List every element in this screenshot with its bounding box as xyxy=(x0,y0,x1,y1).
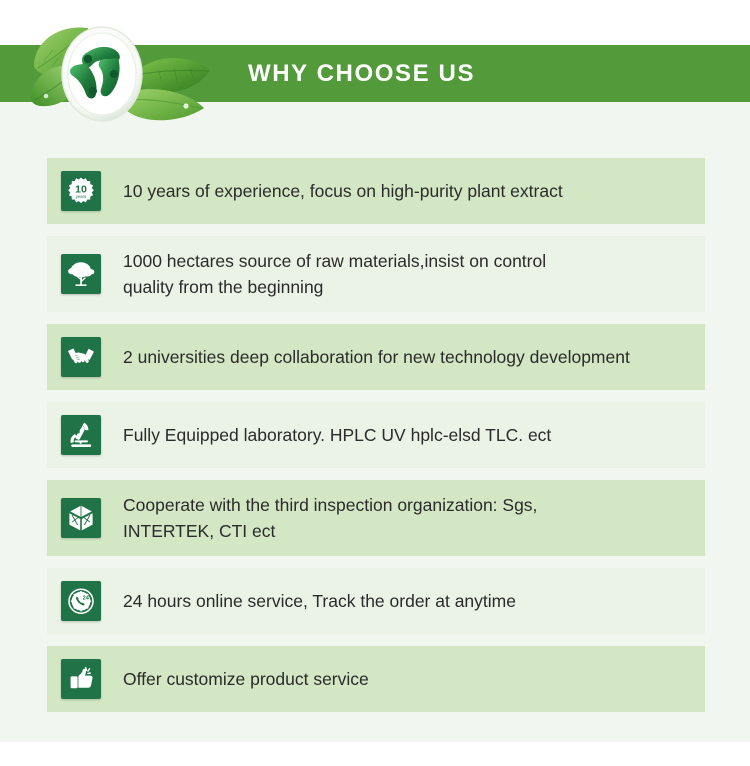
svg-text:years: years xyxy=(76,194,86,199)
why-choose-us-page: WHY CHOOSE US xyxy=(0,0,750,766)
thumbs-up-icon xyxy=(61,659,101,699)
feature-row[interactable]: Cooperate with the third inspection orga… xyxy=(47,480,705,556)
feature-text: 2 universities deep collaboration for ne… xyxy=(123,344,705,370)
svg-text:24: 24 xyxy=(83,595,90,601)
bottom-white-strip xyxy=(0,742,750,766)
feature-row[interactable]: Fully Equipped laboratory. HPLC UV hplc-… xyxy=(47,402,705,468)
feature-row[interactable]: 2 universities deep collaboration for ne… xyxy=(47,324,705,390)
phone-24h-icon: 24 xyxy=(61,581,101,621)
feature-text: 10 years of experience, focus on high-pu… xyxy=(123,178,705,204)
feature-text: Offer customize product service xyxy=(123,666,705,692)
cube-box-icon xyxy=(61,498,101,538)
feature-row[interactable]: 10 years 10 years of experience, focus o… xyxy=(47,158,705,224)
features-list: 10 years 10 years of experience, focus o… xyxy=(47,158,705,724)
feature-row[interactable]: Offer customize product service xyxy=(47,646,705,712)
feature-row[interactable]: 24 24 hours online service, Track the or… xyxy=(47,568,705,634)
logo-emblem-circle xyxy=(62,27,142,121)
feature-text: Cooperate with the third inspection orga… xyxy=(123,492,705,544)
microscope-icon xyxy=(61,415,101,455)
handshake-icon xyxy=(61,337,101,377)
feature-text: 1000 hectares source of raw materials,in… xyxy=(123,248,705,300)
feature-text: Fully Equipped laboratory. HPLC UV hplc-… xyxy=(123,422,705,448)
page-title: WHY CHOOSE US xyxy=(248,45,475,102)
leaf-right-upper xyxy=(136,58,210,92)
leaf-circle-logo xyxy=(26,14,226,126)
tree-icon xyxy=(61,254,101,294)
feature-row[interactable]: 1000 hectares source of raw materials,in… xyxy=(47,236,705,312)
feature-text: 24 hours online service, Track the order… xyxy=(123,588,705,614)
ten-years-badge-icon: 10 years xyxy=(61,171,101,211)
